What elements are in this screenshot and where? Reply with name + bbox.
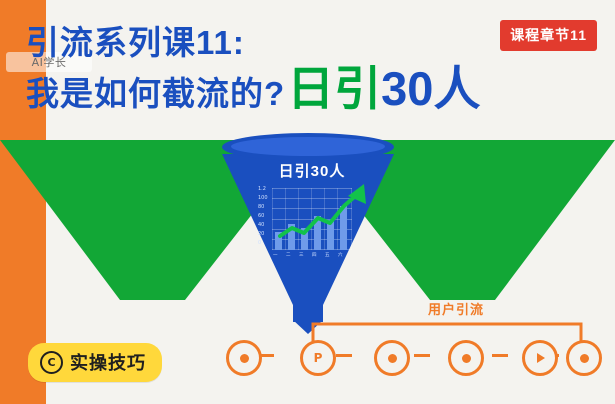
mini-chart-x-label-2: 二	[286, 252, 291, 258]
headline-line-1: 引流系列课11:	[26, 22, 586, 63]
mini-chart-plot-area	[272, 188, 352, 250]
skill-tag-label: 实操技巧	[70, 349, 146, 375]
node-dot-4-icon[interactable]	[448, 340, 484, 376]
node-p-label: P	[314, 351, 323, 365]
mini-chart-x-label-1: 一	[273, 252, 278, 258]
node-dot-6-icon[interactable]	[566, 340, 602, 376]
node-dot-1-icon[interactable]	[226, 340, 262, 376]
mini-chart-y-label-0: 1.2	[258, 186, 266, 192]
mini-chart-y-label-1: 100	[258, 195, 268, 201]
node-play-5-icon[interactable]	[522, 340, 558, 376]
mini-growth-chart: 1.2 100 80 60 40 20 0	[258, 188, 354, 266]
copyright-icon: C	[40, 351, 63, 374]
mini-chart-x-label-5: 五	[325, 252, 330, 258]
mini-chart-y-label-4: 40	[258, 222, 264, 228]
funnel-rim-inner	[231, 137, 385, 156]
flow-dash-2	[336, 354, 352, 357]
headline-block: 引流系列课11: 我是如何截流的? 日引 30人	[26, 22, 586, 112]
headline-line-2: 我是如何截流的? 日引 30人	[26, 67, 586, 112]
skill-tag-pill[interactable]: C 实操技巧	[28, 343, 162, 382]
poster-canvas: AI学长 课程章节11 引流系列课11: 我是如何截流的? 日引 30人 日引3…	[0, 0, 615, 404]
headline-question: 我是如何截流的?	[26, 76, 285, 112]
node-dot-3-icon[interactable]	[374, 340, 410, 376]
flow-dash-3	[414, 354, 430, 357]
headline-green-text: 日引	[287, 67, 381, 112]
headline-blue-number: 30人	[381, 67, 480, 112]
mini-chart-x-label-3: 三	[299, 252, 304, 258]
mini-chart-x-label-6: 六	[338, 252, 343, 258]
mini-chart-x-label-4: 四	[312, 252, 317, 258]
flow-dash-4	[492, 354, 508, 357]
node-p-icon[interactable]: P	[300, 340, 336, 376]
mini-chart-y-label-5: 20	[258, 231, 264, 237]
mini-chart-y-label-3: 60	[258, 213, 264, 219]
mini-chart-y-label-2: 80	[258, 204, 264, 210]
mini-chart-y-label-6: 0	[258, 240, 261, 246]
